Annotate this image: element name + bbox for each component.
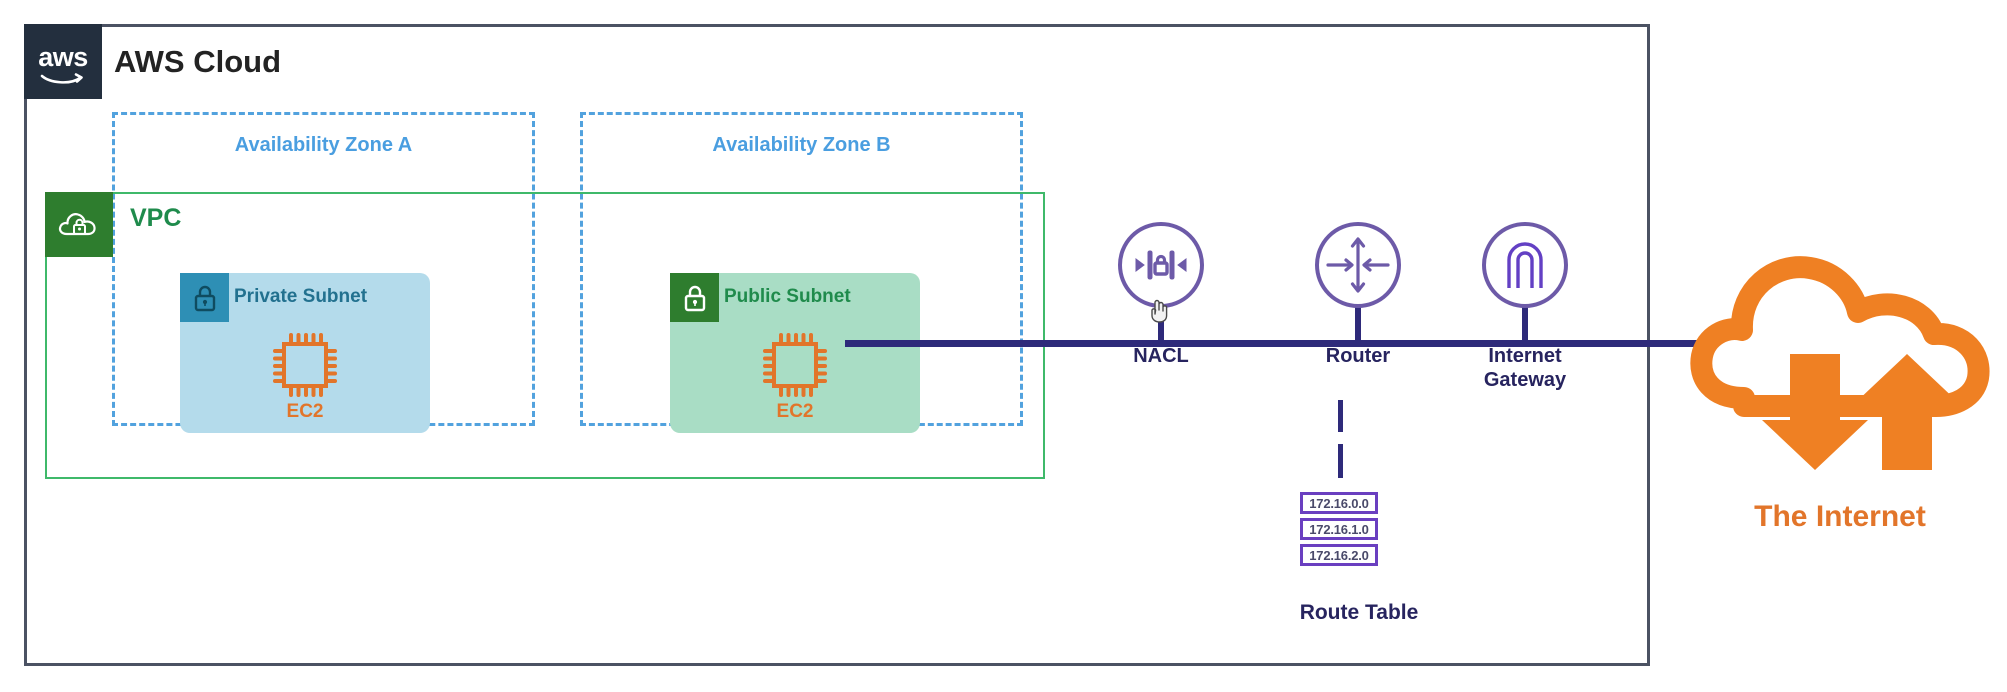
hand-pointer-cursor [1147, 296, 1171, 329]
route-table-row[interactable]: 172.16.2.0 [1300, 544, 1378, 566]
internet-gateway-label-line1: Internet [1484, 344, 1566, 368]
vpc-label: VPC [130, 204, 181, 233]
aws-logo: aws [24, 24, 102, 99]
internet-gateway-arch-icon[interactable] [1482, 222, 1568, 308]
aws-swoosh-icon [40, 72, 86, 85]
router-four-arrows-icon[interactable] [1315, 222, 1401, 308]
public-subnet-title: Public Subnet [724, 286, 851, 308]
internet-gateway-label-line2: Gateway [1484, 368, 1566, 392]
ec2-chip-icon [755, 325, 835, 410]
route-table-row[interactable]: 172.16.0.0 [1300, 492, 1378, 514]
igw-stub-line [1522, 305, 1528, 343]
diagram-canvas: aws AWS Cloud Availability Zone A Availa… [0, 0, 2007, 692]
route-table[interactable]: 172.16.0.0 172.16.1.0 172.16.2.0 [1300, 492, 1378, 570]
router-node[interactable]: Router [1315, 222, 1401, 308]
vpc-cloud-lock-icon [45, 192, 113, 257]
internet-label: The Internet [1690, 500, 1990, 534]
ec2-chip-icon [265, 325, 345, 410]
aws-logo-text: aws [38, 44, 88, 71]
router-route-table-dash-1 [1338, 400, 1343, 432]
router-label: Router [1326, 344, 1390, 368]
internet-gateway-node[interactable]: Internet Gateway [1482, 222, 1568, 308]
availability-zone-a-label: Availability Zone A [115, 134, 532, 157]
public-subnet-instance-label: EC2 [670, 401, 920, 423]
nacl-label: NACL [1133, 344, 1189, 368]
private-subnet-card: Private Subnet [180, 273, 430, 433]
page-title: AWS Cloud [114, 44, 281, 80]
route-table-row[interactable]: 172.16.1.0 [1300, 518, 1378, 540]
lock-icon [180, 273, 229, 322]
private-subnet-title: Private Subnet [234, 286, 367, 308]
route-table-label: Route Table [1279, 601, 1439, 625]
router-stub-line [1355, 305, 1361, 343]
internet-gateway-label: Internet Gateway [1484, 344, 1566, 392]
router-route-table-dash-2 [1338, 444, 1343, 478]
lock-icon [670, 273, 719, 322]
private-subnet-instance-label: EC2 [180, 401, 430, 423]
network-trunk-line [845, 340, 1700, 347]
public-subnet-card: Public Subnet [670, 273, 920, 433]
availability-zone-b-label: Availability Zone B [583, 134, 1020, 157]
cloud-up-down-arrows-icon [1690, 238, 1990, 488]
